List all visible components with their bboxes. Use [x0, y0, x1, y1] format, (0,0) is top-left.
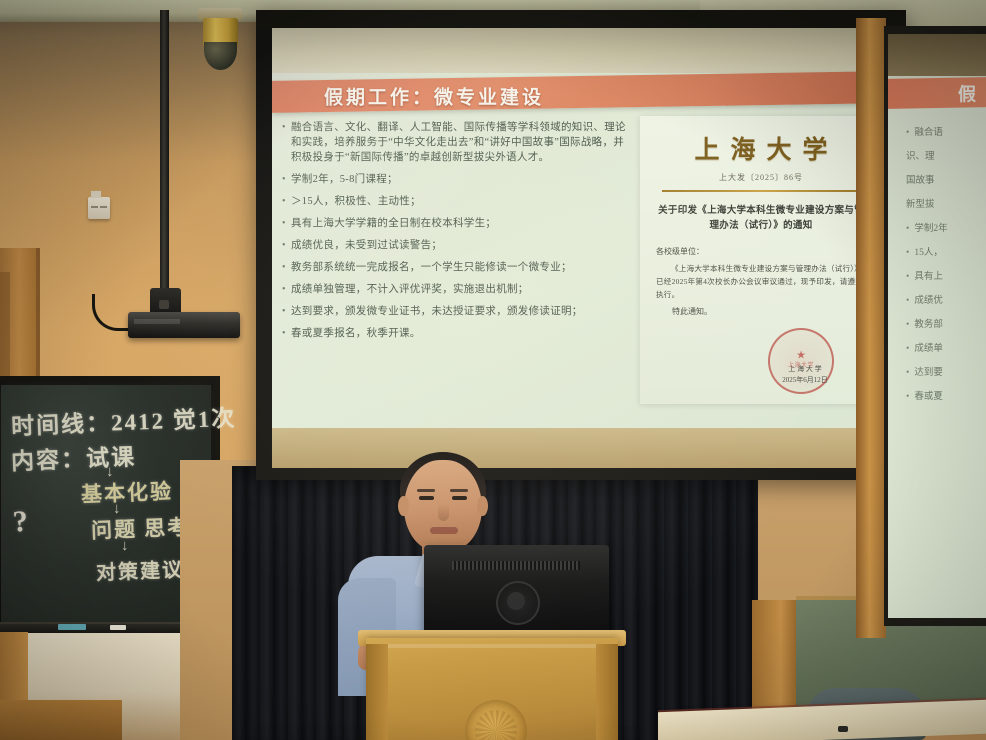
bullet-dot-icon: • [282, 216, 291, 231]
bullet-dot-icon: • [906, 368, 909, 378]
slide-bullet: • ＞15人，积极性、主动性； [282, 194, 628, 209]
secondary-slide-title: 假 [958, 80, 976, 106]
secondary-bullet-text: 春或夏 [914, 392, 943, 402]
slide-bullet-text: 达到要求，颁发微专业证书，未达授证要求，颁发修读证明； [291, 304, 628, 319]
presenter-eye-left [419, 496, 434, 500]
bullet-dot-icon: • [906, 344, 909, 354]
bullet-dot-icon: • [282, 238, 291, 253]
blackboard-question-mark: ? [12, 504, 31, 539]
secondary-bullet: •融合语 [906, 126, 986, 141]
secondary-bullet: •春或夏 [906, 390, 986, 405]
presenter-nose [438, 504, 449, 521]
wifi-access-point-icon [88, 197, 110, 219]
ceiling-projector-icon [128, 312, 240, 338]
secondary-bullet-text: 融合语 [914, 128, 943, 138]
presentation-slide: 假期工作：微专业建设 • 融合语言、文化、翻译、人工智能、国际传播等学科领域的知… [272, 28, 892, 428]
secondary-bullet-text: 成绩优 [914, 296, 943, 306]
secondary-bullet: •学制2年 [906, 222, 986, 237]
presenter-mouth [430, 527, 458, 534]
blackboard-arrow-icon-3: ↓ [121, 537, 129, 554]
secondary-bullet-text: 教务部 [914, 320, 943, 330]
document-body-text: 《上海大学本科生微专业建设方案与管理办法（试行）》已经2025年第4次校长办公会… [656, 262, 868, 301]
bullet-dot-icon: • [906, 320, 909, 330]
secondary-bullet: •具有上 [906, 270, 986, 285]
secondary-bullet-text: 新型拔 [906, 200, 935, 210]
secondary-projection-screen: 假 •融合语 识、理 国故事 新型拔 •学制2年 •15人， •具有上 •成绩优… [888, 34, 986, 618]
secondary-bullet-text: 具有上 [914, 272, 943, 282]
document-divider [662, 190, 860, 192]
presenter-eye-right [452, 496, 467, 500]
podium-monitor [424, 545, 609, 637]
secondary-bullet: •达到要 [906, 366, 986, 381]
document-sign-date: 2025年6月12日 [760, 375, 850, 386]
secondary-slide-title-band: 假 [888, 77, 986, 109]
slide-bullet: • 春或夏季报名，秋季开课。 [282, 326, 628, 341]
document-letterhead: 上海大学 [640, 130, 882, 166]
secondary-bullet: 国故事 [906, 174, 986, 189]
slide-top-strip [272, 28, 892, 73]
bullet-dot-icon: • [906, 248, 909, 258]
slide-bullet-text: 成绩优良，未受到过试读警告； [291, 238, 628, 253]
slide-bullet-text: 融合语言、文化、翻译、人工智能、国际传播等学科领域的知识、理论和实践，培养服务于… [291, 120, 628, 165]
bullet-dot-icon: • [906, 224, 909, 234]
slide-bullet: • 达到要求，颁发微专业证书，未达授证要求，颁发修读证明； [282, 304, 628, 319]
secondary-slide-top-strip [888, 34, 986, 76]
bullet-dot-icon: • [906, 272, 909, 282]
blackboard-line-content: 内容：试课 [10, 438, 136, 477]
document-signer: 上 海 大 学 2025年6月12日 [760, 364, 850, 386]
blackboard-line-basic: 基本化验 [80, 475, 173, 509]
blackboard-arrow-icon-2: ↓ [113, 500, 121, 517]
bullet-dot-icon: • [282, 304, 291, 319]
document-salutation: 各校级单位： [656, 246, 704, 257]
bullet-dot-icon: • [282, 260, 291, 275]
document-number: 上大发〔2025〕86号 [640, 172, 882, 183]
wood-pillar-right [856, 18, 886, 638]
bullet-dot-icon: • [282, 194, 291, 209]
secondary-slide-bullets: •融合语 识、理 国故事 新型拔 •学制2年 •15人， •具有上 •成绩优 •… [906, 126, 986, 414]
slide-bullet-text: 教务部系统统一完成报名，一个学生只能修读一个微专业； [291, 260, 628, 275]
bullet-dot-icon: • [282, 120, 291, 135]
presenter-brow-left [417, 489, 435, 492]
projection-screen: 假期工作：微专业建设 • 融合语言、文化、翻译、人工智能、国际传播等学科领域的知… [272, 28, 892, 468]
slide-bullet: • 学制2年，5-8门课程； [282, 172, 628, 187]
document-title: 关于印发《上海大学本科生微专业建设方案与管理办法（试行）》的通知 [656, 204, 866, 234]
slide-title: 假期工作：微专业建设 [324, 82, 544, 109]
chalkboard-eraser-icon [58, 624, 86, 630]
podium-side-left [366, 644, 388, 740]
seal-star-icon: ★ [796, 348, 806, 361]
secondary-bullet-text: 15人， [914, 248, 943, 258]
slide-bullet-text: 春或夏季报名，秋季开课。 [291, 326, 628, 341]
slide-bullet: • 教务部系统统一完成报名，一个学生只能修读一个微专业； [282, 260, 628, 275]
secondary-bullet: •成绩单 [906, 342, 986, 357]
document-closing: 特此通知。 [672, 306, 712, 317]
slide-bullet-text: 学制2年，5-8门课程； [291, 172, 628, 187]
secondary-bullet-text: 成绩单 [914, 344, 943, 354]
official-document-image: 上海大学 上大发〔2025〕86号 关于印发《上海大学本科生微专业建设方案与管理… [640, 116, 882, 404]
monitor-vent [452, 561, 580, 570]
presenter-brow-right [450, 489, 468, 492]
podium-lip [366, 644, 618, 648]
secondary-bullet: •成绩优 [906, 294, 986, 309]
bullet-dot-icon: • [906, 128, 909, 138]
presenter-ear-right [477, 496, 488, 516]
chalk-stick-icon [110, 625, 126, 630]
slide-title-band: 假期工作：微专业建设 [272, 71, 892, 113]
blackboard-line-advice: 对策建议 [95, 553, 184, 585]
blackboard-line-question: 问题 思考 [90, 511, 190, 545]
secondary-bullet-text: 国故事 [906, 176, 935, 186]
lecture-hall-photo: 时间线：2412 觉1次 内容：试课 基本化验 问题 思考 对策建议 ? ↓ ↓… [0, 0, 986, 740]
blackboard-arrow-icon-1: ↓ [106, 463, 114, 480]
bullet-dot-icon: • [906, 296, 909, 306]
secondary-bullet: 新型拔 [906, 198, 986, 213]
slide-bullet: • 成绩单独管理，不计入评优评奖，实施退出机制； [282, 282, 628, 297]
slide-bullet-text: ＞15人，积极性、主动性； [291, 194, 628, 209]
secondary-bullet-text: 识、理 [906, 152, 935, 162]
secondary-bullet-text: 达到要 [914, 368, 943, 378]
slide-bullet: • 成绩优良，未受到过试读警告； [282, 238, 628, 253]
projector-pole [160, 10, 169, 306]
stage-curtain-right [640, 466, 758, 740]
projection-screen-top-bar [256, 10, 906, 30]
slide-bullet-text: 具有上海大学学籍的全日制在校本科学生； [291, 216, 628, 231]
monitor-stand-mount-icon [496, 581, 540, 625]
secondary-bullet: 识、理 [906, 150, 986, 165]
slide-bullet-text: 成绩单独管理，不计入评优评奖，实施退出机制； [291, 282, 628, 297]
bullet-dot-icon: • [906, 392, 909, 402]
bullet-dot-icon: • [282, 172, 291, 187]
slide-bullet: • 具有上海大学学籍的全日制在校本科学生； [282, 216, 628, 231]
blackboard-line-timeline: 时间线：2412 觉1次 [10, 399, 236, 442]
door-panel [0, 272, 10, 382]
secondary-bullet-text: 学制2年 [914, 224, 947, 234]
bullet-dot-icon: • [282, 326, 291, 341]
table-small-object [838, 726, 848, 732]
secondary-bullet: •15人， [906, 246, 986, 261]
secondary-bullet: •教务部 [906, 318, 986, 333]
bullet-dot-icon: • [282, 282, 291, 297]
document-signer-name: 上 海 大 学 [760, 364, 850, 375]
podium-side-right [596, 644, 618, 740]
wood-baseboard-left [0, 700, 122, 740]
presenter-ear-left [398, 496, 409, 516]
slide-bullet-list: • 融合语言、文化、翻译、人工智能、国际传播等学科领域的知识、理论和实践，培养服… [282, 120, 628, 348]
slide-bullet: • 融合语言、文化、翻译、人工智能、国际传播等学科领域的知识、理论和实践，培养服… [282, 120, 628, 165]
